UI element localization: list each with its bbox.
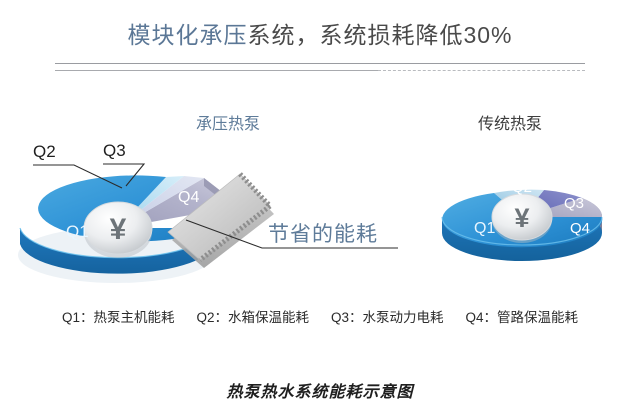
legend-item-q4: Q4：管路保温能耗 [466,306,579,326]
center-coin: ¥ [492,194,552,243]
legend: Q1：热泵主机能耗 Q2：水箱保温能耗 Q3：水泵动力电耗 Q4：管路保温能耗 [0,306,640,326]
slide-canvas: 模块化承压系统，系统损耗降低30% 承压热泵 传统热泵 [0,0,640,420]
leader-q3 [103,164,144,186]
slice-label-q3: Q3 [564,195,584,212]
slice-label-q4: Q4 [570,220,590,237]
callout-label-q3: Q3 [103,141,126,161]
figure-caption: 热泵热水系统能耗示意图 [0,378,640,402]
page-title: 模块化承压系统，系统损耗降低30% [0,16,640,50]
slice-label-q2: Q2 [512,179,532,196]
chart-traditional-heat-pump: ¥ Q1 Q2 Q3 Q4 [432,155,617,280]
legend-item-q3: Q3：水泵动力电耗 [331,306,444,326]
saved-energy-label: 节省的能耗 [268,218,378,248]
callout-label-q2: Q2 [33,142,56,162]
legend-item-q2: Q2：水箱保温能耗 [196,306,309,326]
page-title-rest: 系统，系统损耗降低30% [247,22,512,48]
divider-upper [55,63,585,64]
section-label-traditional: 传统热泵 [478,110,542,134]
legend-item-q1: Q1：热泵主机能耗 [62,306,175,326]
slice-label-q1: Q1 [474,220,495,237]
leader-q2 [33,165,122,188]
page-title-highlight: 模块化承压 [127,22,247,48]
currency-symbol: ¥ [514,203,529,233]
divider-lower-dashed [378,70,585,71]
